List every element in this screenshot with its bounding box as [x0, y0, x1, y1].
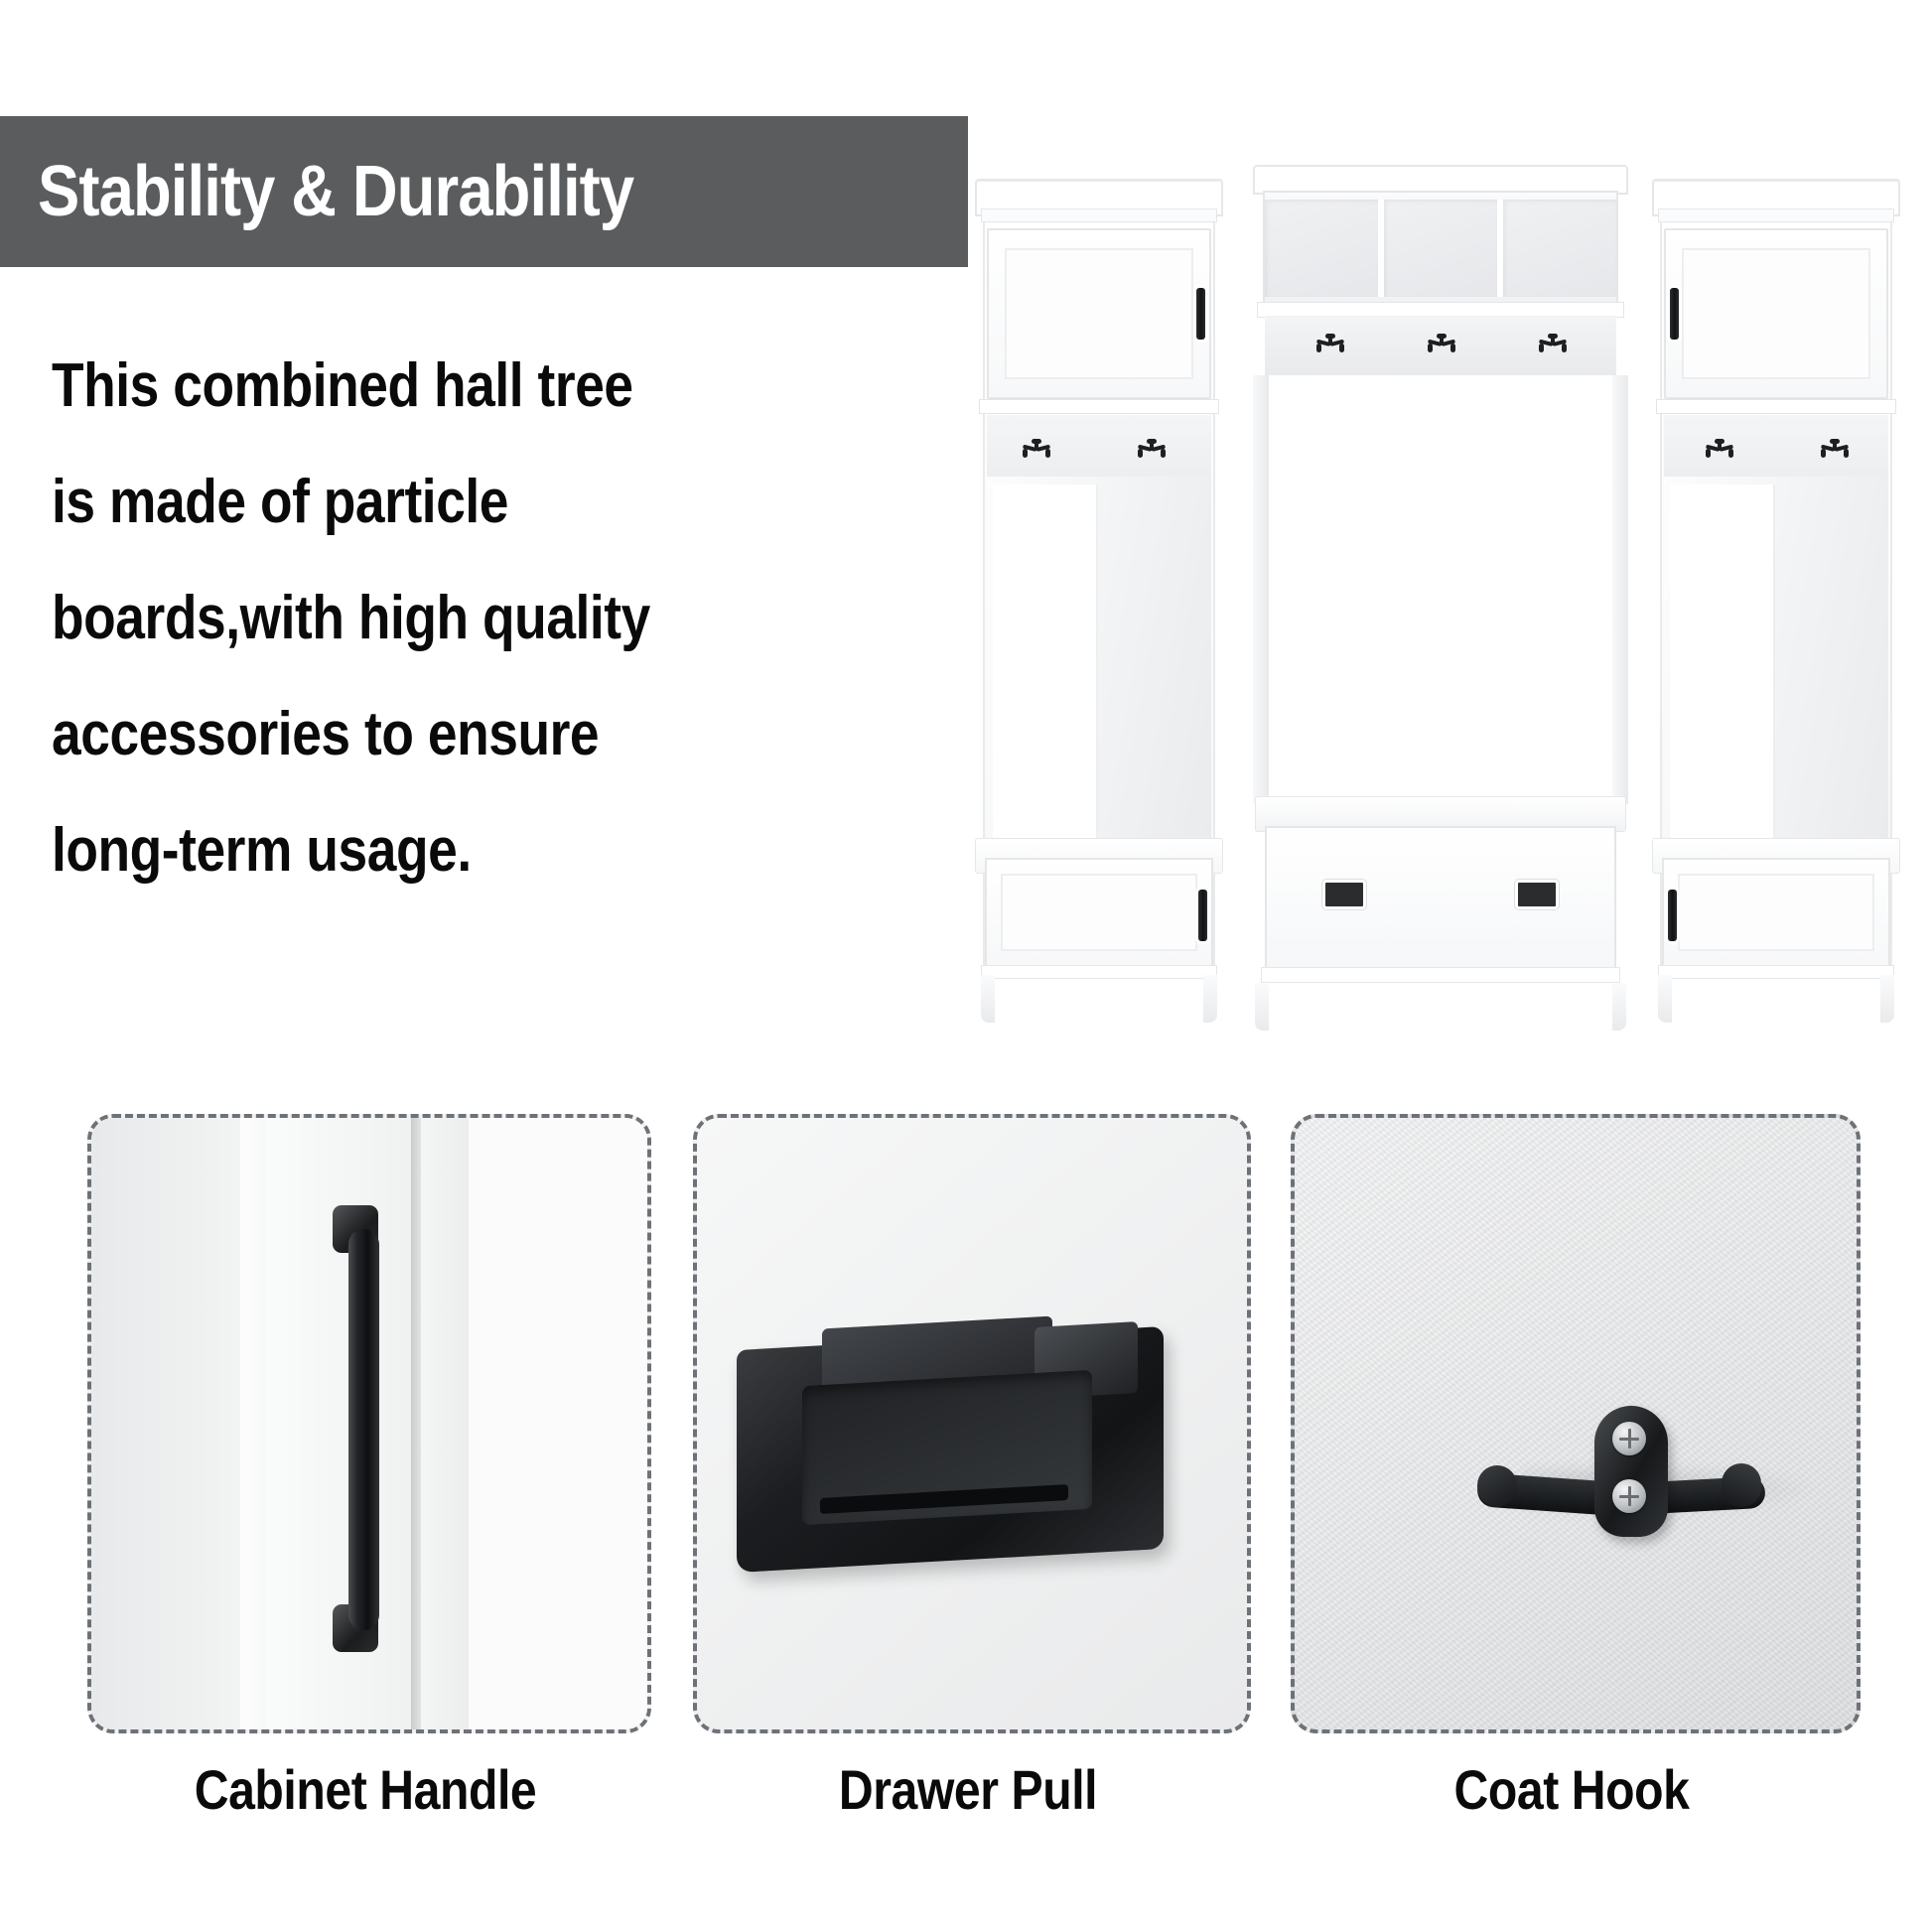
left-upper-cabinet-door: [987, 228, 1211, 399]
left-tower-unit: [971, 179, 1227, 1023]
middle-unit: [1253, 165, 1628, 1031]
hook-left-tip: [1477, 1465, 1517, 1507]
coat-hook-icon: [1316, 334, 1344, 353]
drawer-pull-detail-panel: [693, 1114, 1251, 1733]
right-lower-cabinet-door: [1662, 858, 1890, 967]
hook-right-tip: [1722, 1463, 1761, 1507]
coat-hook-icon: [1539, 334, 1567, 353]
caption-coat-hook: Coat Hook: [1330, 1757, 1814, 1822]
drawer-pull-icon: [1515, 880, 1559, 909]
left-lower-cabinet-handle-icon: [1198, 890, 1207, 941]
cubby-compartment: [1384, 200, 1503, 297]
door-left-stile: [91, 1118, 240, 1729]
middle-foot: [1612, 983, 1626, 1031]
middle-left-stile: [1253, 375, 1269, 804]
right-upper-cabinet-handle-icon: [1670, 288, 1679, 340]
detail-captions: Cabinet Handle Drawer Pull Coat Hook: [0, 1757, 1932, 1896]
left-tower-plinth: [981, 965, 1217, 979]
door-background: [469, 1118, 647, 1729]
drawer-pull-icon: [737, 1287, 1164, 1575]
cabinet-handle-icon: [333, 1205, 380, 1652]
right-tower-crown-lip: [1658, 208, 1894, 222]
middle-open-section: [1265, 375, 1616, 784]
left-tower-foot: [981, 975, 995, 1023]
coat-hook-icon: [1138, 439, 1166, 459]
header-banner: Stability & Durability: [0, 116, 968, 267]
phillips-screw-icon: [1612, 1479, 1646, 1513]
left-tower-foot: [1203, 975, 1217, 1023]
left-tower-hook-rail: [987, 415, 1211, 479]
middle-drawer: [1265, 826, 1616, 969]
description-line-3: boards,with high quality: [52, 560, 811, 676]
left-tower-crown-lip: [981, 208, 1217, 222]
coat-hook-detail-panel: [1291, 1114, 1861, 1733]
right-tower-unit: [1648, 179, 1904, 1023]
caption-drawer-pull: Drawer Pull: [732, 1757, 1204, 1822]
left-lower-cabinet-door: [985, 858, 1213, 967]
right-lower-cabinet-handle-icon: [1668, 890, 1677, 941]
middle-foot: [1255, 983, 1269, 1031]
right-tower-shelf: [1656, 399, 1896, 414]
right-tower-hook-rail: [1664, 415, 1888, 479]
caption-cabinet-handle: Cabinet Handle: [126, 1757, 605, 1822]
coat-hook-icon: [1477, 1406, 1775, 1555]
hall-tree-product-image: [953, 159, 1926, 1033]
description-line-2: is made of particle: [52, 444, 811, 560]
coat-hook-icon: [1023, 439, 1050, 459]
hardware-detail-panels: [0, 1114, 1932, 1725]
phillips-screw-icon: [1612, 1422, 1646, 1455]
cubby-compartment: [1503, 200, 1616, 297]
description-line-4: accessories to ensure: [52, 676, 811, 792]
middle-plinth: [1261, 967, 1620, 983]
description-line-1: This combined hall tree: [52, 328, 811, 444]
door-edge-shadow: [411, 1118, 421, 1729]
page-title: Stability & Durability: [38, 156, 633, 227]
handle-grip-bar: [348, 1229, 379, 1630]
infographic-page: Stability & Durability This combined hal…: [0, 0, 1932, 1932]
cubby-shelf-box: [1263, 191, 1618, 306]
door-right-stile: [421, 1118, 469, 1729]
right-tower-foot: [1658, 975, 1672, 1023]
middle-right-stile: [1612, 375, 1628, 804]
right-tower-foot: [1880, 975, 1894, 1023]
coat-hook-icon: [1428, 334, 1455, 353]
door-gap: [240, 1118, 266, 1729]
right-upper-cabinet-door: [1664, 228, 1888, 399]
left-upper-cabinet-handle-icon: [1196, 288, 1205, 340]
left-tower-shelf: [979, 399, 1219, 414]
description-paragraph: This combined hall tree is made of parti…: [52, 328, 935, 908]
cabinet-handle-detail-panel: [87, 1114, 651, 1733]
right-tower-plinth: [1658, 965, 1894, 979]
coat-hook-icon: [1821, 439, 1849, 459]
coat-hook-icon: [1706, 439, 1733, 459]
drawer-pull-icon: [1322, 880, 1366, 909]
cubby-compartment: [1265, 200, 1384, 297]
description-line-5: long-term usage.: [52, 792, 811, 908]
